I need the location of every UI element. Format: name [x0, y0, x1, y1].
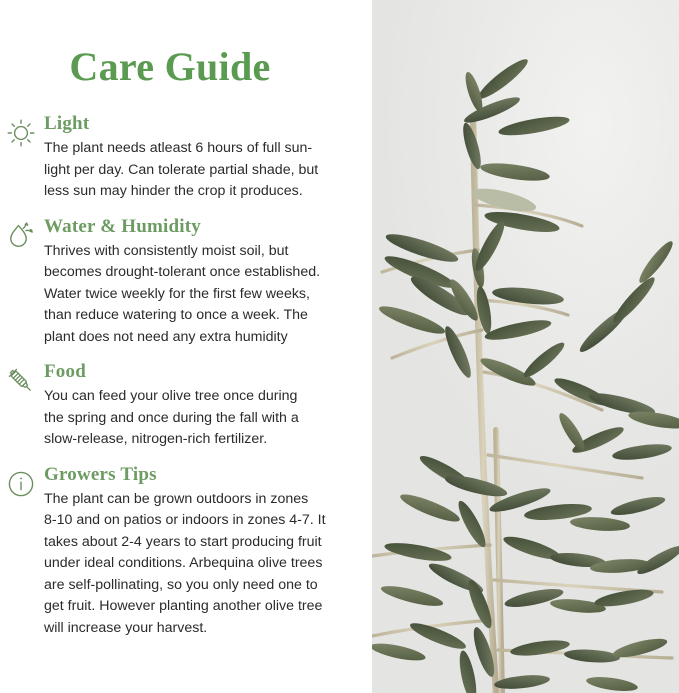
- water-droplet-icon: [4, 219, 38, 253]
- info-circle-icon: [4, 467, 38, 501]
- syringe-icon: [4, 364, 38, 398]
- olive-branch-photo: [372, 0, 679, 693]
- sun-icon: [4, 116, 38, 150]
- guide-panel: Care Guide Lig: [0, 0, 372, 693]
- section-heading: Light: [44, 112, 346, 135]
- lower-stem: [496, 430, 502, 693]
- olive-branch-illustration: [372, 0, 679, 693]
- section-heading: Growers Tips: [44, 463, 346, 486]
- section-body: Thrives with consistently moist soil, bu…: [44, 241, 346, 349]
- leaf-cluster-right: [552, 238, 679, 463]
- section-body: The plant can be grown outdoors in zones…: [44, 489, 346, 640]
- care-section-growers-tips: Growers Tips The plant can be grown outd…: [0, 463, 372, 640]
- section-heading: Food: [44, 360, 346, 383]
- section-body: The plant needs atleast 6 hours of full …: [44, 138, 346, 203]
- section-heading: Water & Humidity: [44, 215, 346, 238]
- page-title: Care Guide: [0, 44, 340, 90]
- care-section-food: Food You can feed your olive tree once d…: [0, 360, 372, 451]
- section-body: You can feed your olive tree once during…: [44, 386, 346, 451]
- care-sections-list: Light The plant needs atleast 6 hours of…: [0, 112, 372, 651]
- care-section-light: Light The plant needs atleast 6 hours of…: [0, 112, 372, 203]
- care-guide-page: Care Guide Lig: [0, 0, 679, 693]
- care-section-water-humidity: Water & Humidity Thrives with consistent…: [0, 215, 372, 349]
